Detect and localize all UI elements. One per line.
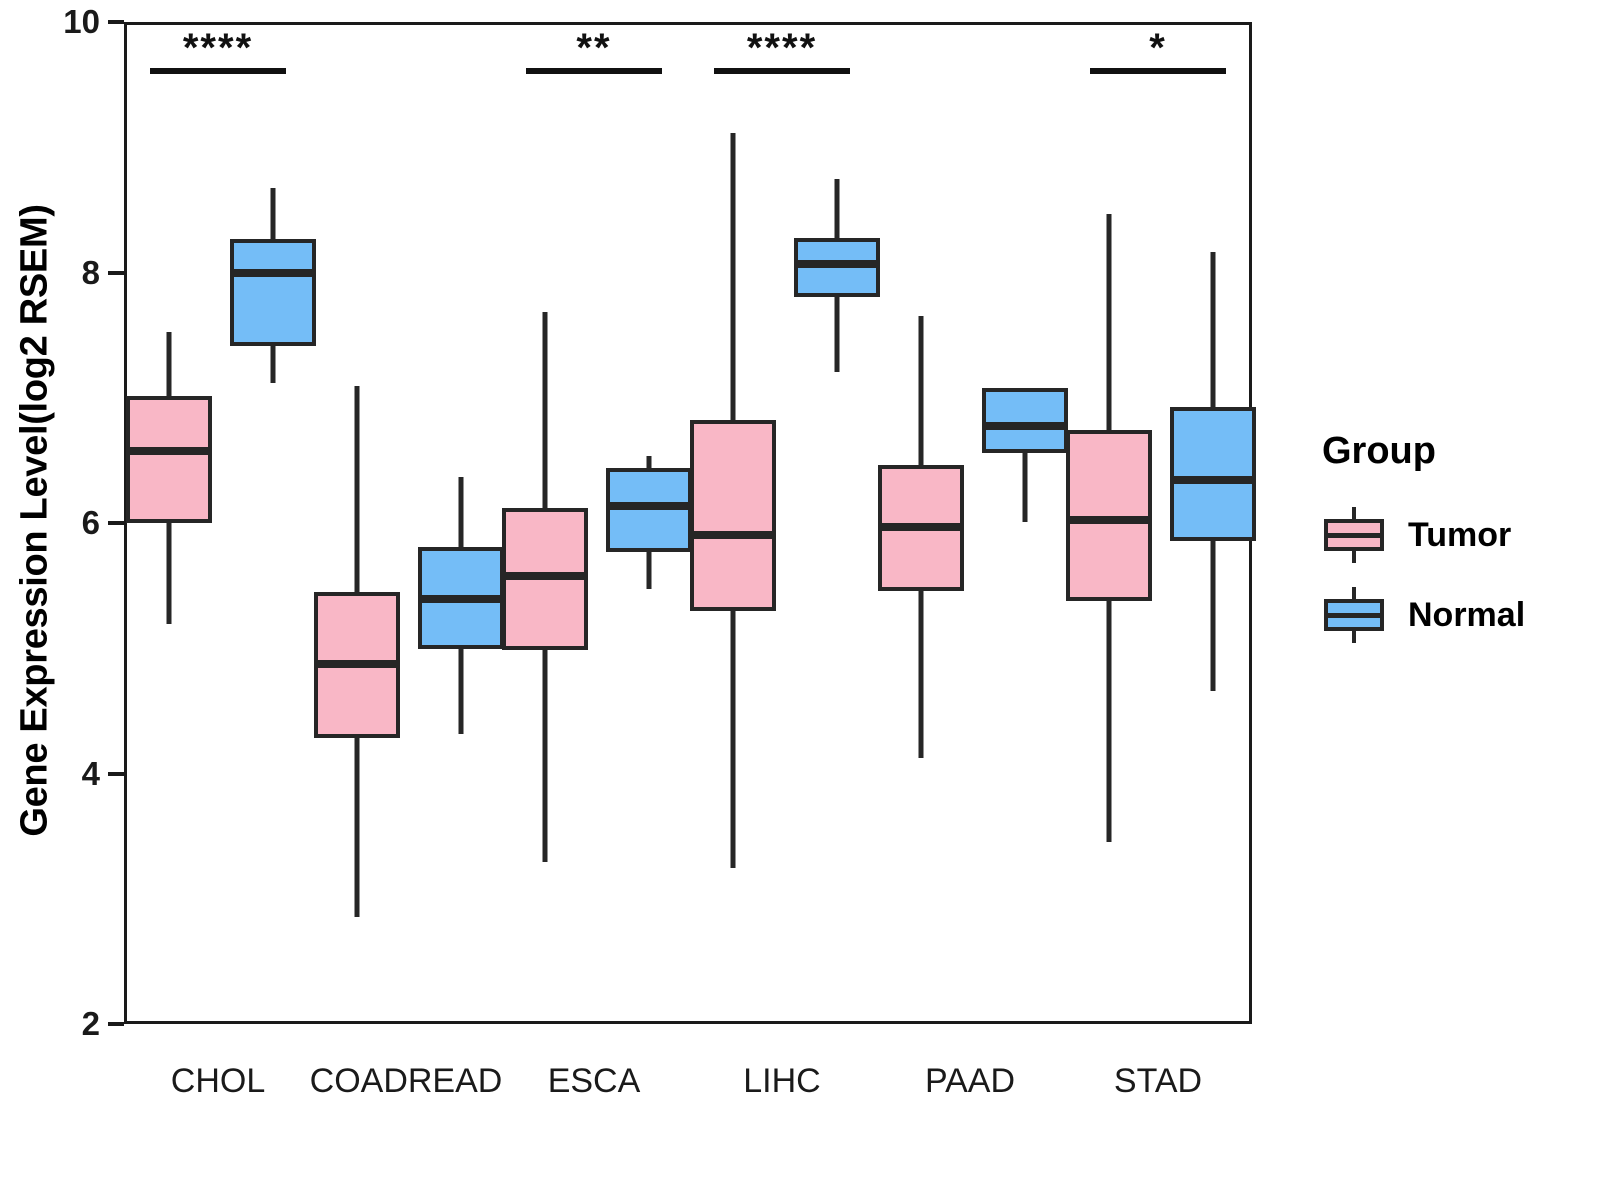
legend-median-line [1324,613,1384,618]
x-axis-tick-label-esca: ESCA [548,1062,641,1101]
legend-label: Tumor [1408,516,1511,555]
x-axis-tick-label-paad: PAAD [925,1062,1015,1101]
legend-whisker-bottom [1352,629,1356,643]
legend-title: Group [1322,430,1592,473]
significance-label-esca: ** [576,28,611,68]
legend-entries: TumorNormal [1322,499,1592,651]
y-axis-tick-label: 4 [48,755,100,793]
y-axis-tick-mark [108,271,124,275]
y-axis-tick-mark [108,1022,124,1026]
y-axis-tick-label: 6 [48,504,100,542]
legend-item-tumor[interactable]: Tumor [1322,499,1592,571]
legend-key-glyph [1322,503,1386,567]
legend-key-glyph [1322,583,1386,647]
y-axis-tick-label: 8 [48,254,100,292]
significance-label-chol: **** [183,28,253,68]
boxplot-box-normal-stad[interactable] [127,25,1249,1021]
y-axis-tick-label: 2 [48,1005,100,1043]
median-line [1170,476,1256,484]
box-iqr [1170,407,1256,541]
y-axis-tick-mark [108,772,124,776]
significance-label-stad: * [1149,28,1167,68]
legend-label: Normal [1408,596,1525,635]
lower-whisker [1211,541,1216,691]
significance-label-lihc: **** [747,28,817,68]
y-axis-tick-label: 10 [48,3,100,41]
y-axis-tick-labels: 246810 [48,0,100,1200]
x-axis-tick-label-coadread: COADREAD [310,1062,503,1101]
upper-whisker [1211,252,1216,407]
x-axis-tick-label-stad: STAD [1114,1062,1202,1101]
plot-area [127,25,1249,1021]
plot-panel [124,22,1252,1024]
x-axis-tick-label-lihc: LIHC [743,1062,820,1101]
legend: Group TumorNormal [1322,430,1592,659]
legend-whisker-bottom [1352,549,1356,563]
y-axis-tick-mark [108,521,124,525]
y-axis-tick-mark [108,20,124,24]
boxplot-figure: Gene Expression Level(log2 RSEM) 246810 … [0,0,1600,1200]
legend-item-normal[interactable]: Normal [1322,579,1592,651]
legend-median-line [1324,533,1384,538]
x-axis-tick-label-chol: CHOL [171,1062,265,1101]
